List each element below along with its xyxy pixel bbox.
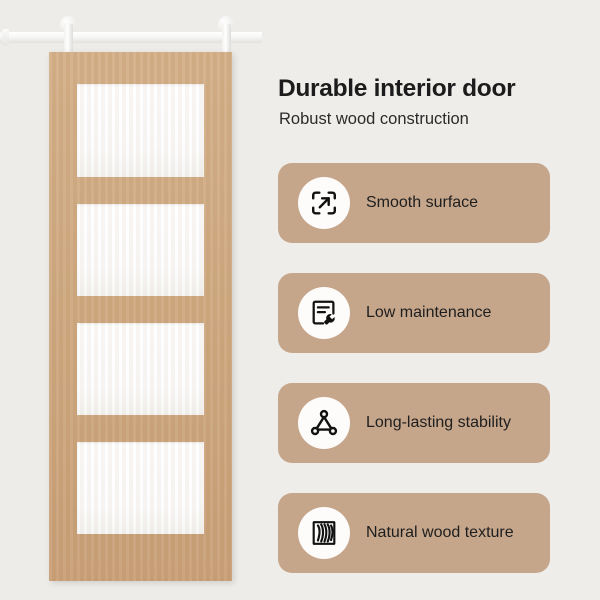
product-image <box>0 0 262 600</box>
page-subtitle: Robust wood construction <box>279 110 591 130</box>
smooth-surface-icon <box>309 188 339 218</box>
wood-texture-icon <box>309 518 339 548</box>
feature-label: Low maintenance <box>366 304 491 322</box>
feature-icon-badge <box>298 287 350 339</box>
stability-icon <box>309 408 339 438</box>
page-title: Durable interior door <box>278 76 590 103</box>
feature-icon-badge <box>298 177 350 229</box>
feature-label: Natural wood texture <box>366 524 514 542</box>
feature-label: Smooth surface <box>366 194 478 212</box>
low-maintenance-icon <box>309 298 339 328</box>
info-column: Durable interior door Robust wood constr… <box>278 0 600 600</box>
barn-door <box>49 52 232 581</box>
feature-card: Low maintenance <box>278 273 550 353</box>
glass-panel <box>77 204 204 296</box>
feature-card: Long-lasting stability <box>278 383 550 463</box>
product-feature-page: Durable interior door Robust wood constr… <box>0 0 600 600</box>
glass-panel <box>77 442 204 534</box>
rail-endstop-left <box>2 29 9 46</box>
glass-panel <box>77 323 204 415</box>
feature-card: Smooth surface <box>278 163 550 243</box>
feature-icon-badge <box>298 507 350 559</box>
feature-label: Long-lasting stability <box>366 414 511 432</box>
glass-panel <box>77 84 204 177</box>
feature-card: Natural wood texture <box>278 493 550 573</box>
feature-icon-badge <box>298 397 350 449</box>
feature-list: Smooth surface Low maintenance <box>278 163 550 600</box>
